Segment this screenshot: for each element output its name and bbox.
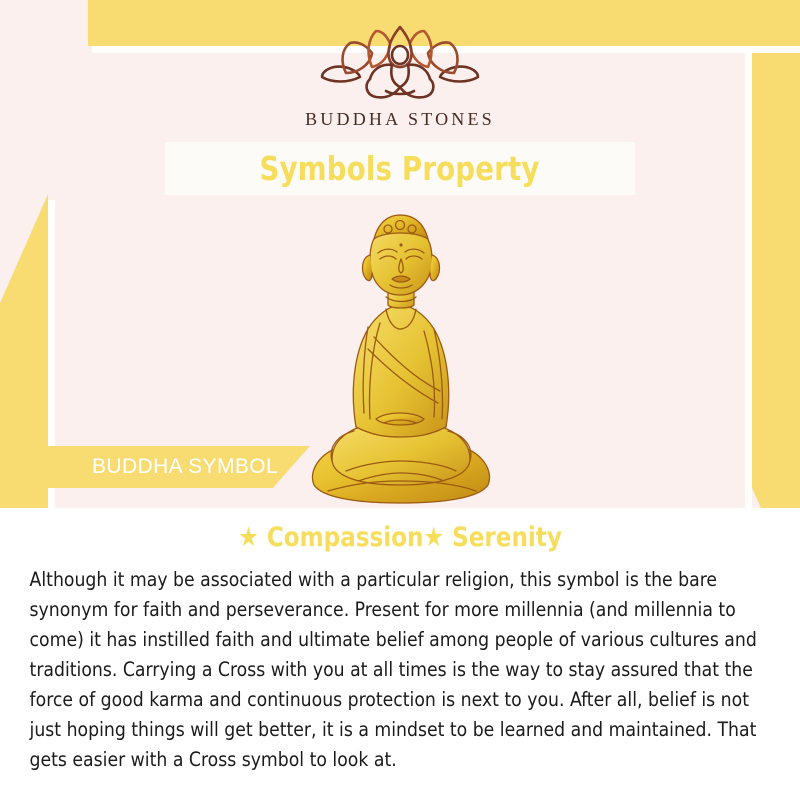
ribbon-label: BUDDHA SYMBOL: [92, 455, 278, 479]
content-canvas: BUDDHA STONES Symbols Property: [55, 53, 745, 747]
page-title: Symbols Property: [260, 149, 540, 188]
brand-name: BUDDHA STONES: [305, 109, 495, 130]
attributes-subtitle: ★ Compassion★ Serenity: [20, 508, 780, 553]
lotus-meditation-figure-icon: [314, 23, 486, 107]
brand-logo: BUDDHA STONES: [55, 23, 745, 143]
seated-golden-buddha-statue: [298, 213, 503, 513]
title-banner: Symbols Property: [165, 142, 635, 195]
frame-bar-right: [752, 0, 800, 595]
description-panel: ★ Compassion★ Serenity Although it may b…: [0, 508, 800, 800]
infographic-page: BUDDHA STONES Symbols Property: [0, 0, 800, 800]
description-paragraph: Although it may be associated with a par…: [0, 565, 788, 775]
section-ribbon: BUDDHA SYMBOL: [0, 446, 310, 488]
